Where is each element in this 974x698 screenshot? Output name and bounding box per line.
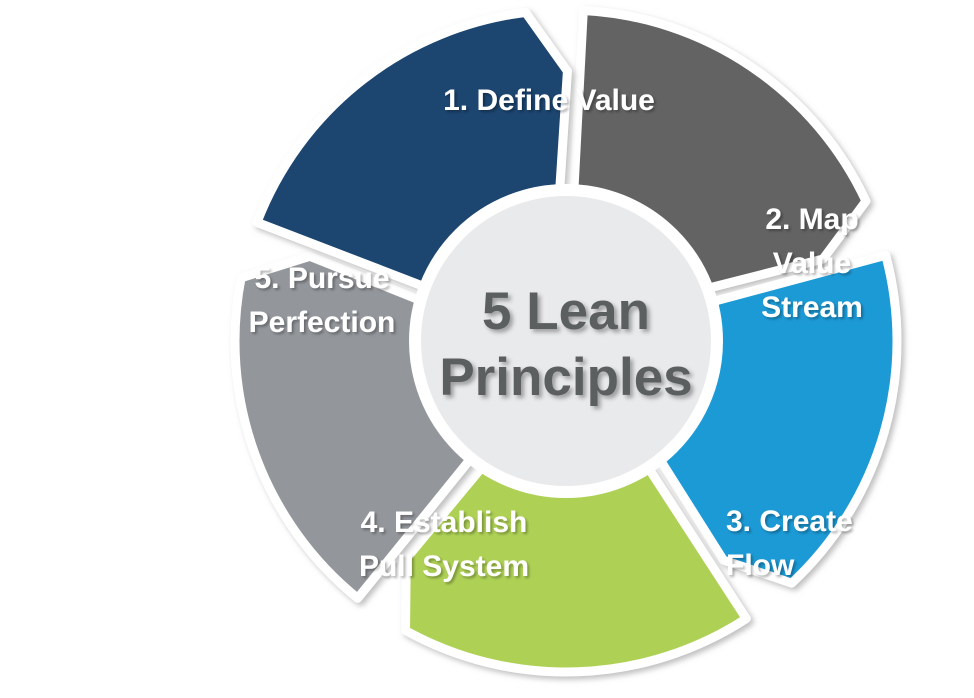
lean-principles-diagram: 5 LeanPrinciples 1. Define Value2. MapVa… [0,0,974,698]
hub-circle-shape [415,190,717,492]
hub-title-line: Principles [439,348,692,407]
segment-label-line: Value [773,247,851,280]
segment-label-line: 1. Define Value [443,84,655,117]
cycle-wheel-svg: 5 LeanPrinciples 1. Define Value2. MapVa… [0,0,974,698]
segment-label-line: Stream [761,291,863,324]
hub-title-line: 5 Lean [482,282,650,341]
segment-label-line: Flow [726,549,795,582]
segment-label-line: Pull System [359,550,529,583]
segment-label-line: 4. Establish [361,506,528,539]
segment-label-line: Perfection [249,306,396,339]
hub-circle: 5 LeanPrinciples [415,190,717,492]
segment-label-line: 2. Map [765,203,858,236]
segment-label-line: 3. Create [726,505,853,538]
segment-label-define-value: 1. Define Value [443,84,655,117]
segment-label-map-value-stream: 2. MapValueStream [761,203,863,324]
segment-label-line: 5. Pursue [254,262,389,295]
